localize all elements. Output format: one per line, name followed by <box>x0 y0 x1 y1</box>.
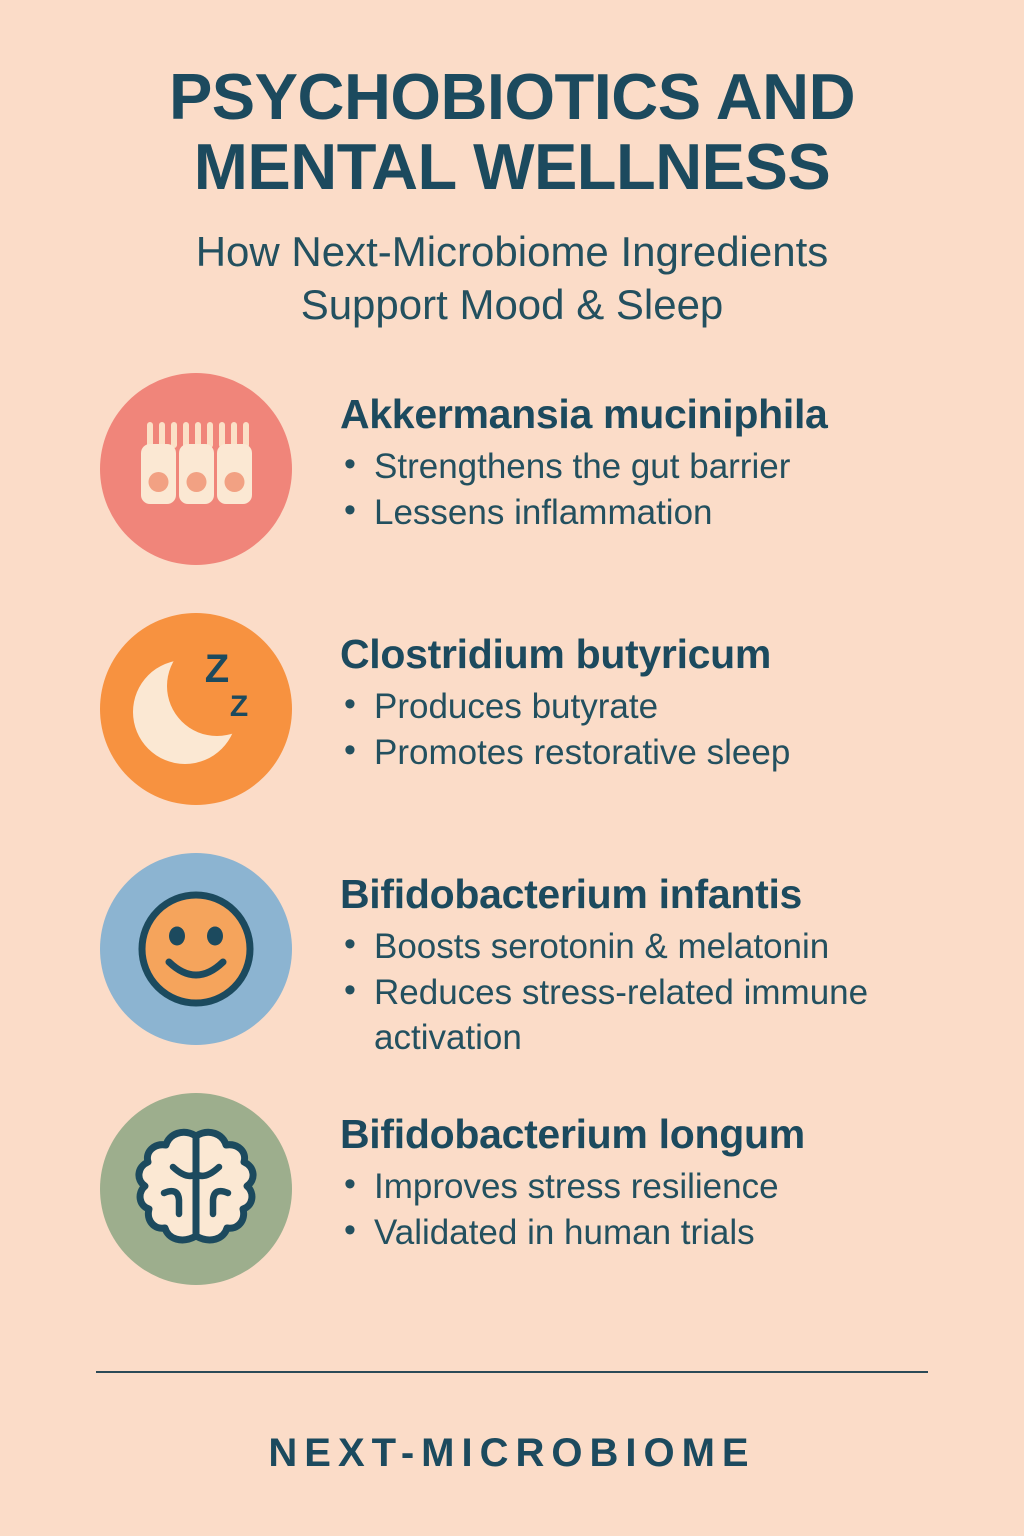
benefit-list: Produces butyrate Promotes restorative s… <box>340 684 790 775</box>
footer: NEXT-MICROBIOME <box>0 1371 1024 1536</box>
list-item: Boosts serotonin & melatonin <box>340 924 1024 970</box>
title-line-2: MENTAL WELLNESS <box>194 130 830 203</box>
benefit-list: Strengthens the gut barrier Lessens infl… <box>340 444 828 535</box>
list-item: Validated in human trials <box>340 1210 805 1256</box>
list-item: Lessens inflammation <box>340 490 828 536</box>
ingredient-name: Akkermansia muciniphila <box>340 393 828 436</box>
crescent-moon-zzz-icon: Z Z <box>100 613 292 805</box>
row-text: Bifidobacterium longum Improves stress r… <box>340 1087 805 1255</box>
subtitle-line-1: How Next-Microbiome Ingredients <box>196 228 829 275</box>
divider <box>96 1371 928 1373</box>
list-item: Produces butyrate <box>340 684 790 730</box>
header: PSYCHOBIOTICS AND MENTAL WELLNESS How Ne… <box>0 0 1024 331</box>
list-item: Strengthens the gut barrier <box>340 444 828 490</box>
ingredient-name: Bifidobacterium infantis <box>340 873 1024 916</box>
list-item: Z Z Clostridium butyricum Produces butyr… <box>0 607 1024 847</box>
list-item: Bifidobacterium longum Improves stress r… <box>0 1087 1024 1327</box>
list-item: Akkermansia muciniphila Strengthens the … <box>0 367 1024 607</box>
benefit-list: Improves stress resilience Validated in … <box>340 1164 805 1255</box>
row-text: Bifidobacterium infantis Boosts serotoni… <box>340 847 1024 1061</box>
list-item: Bifidobacterium infantis Boosts serotoni… <box>0 847 1024 1087</box>
smiley-face-icon <box>100 853 292 1045</box>
row-text: Akkermansia muciniphila Strengthens the … <box>340 367 828 535</box>
svg-text:Z: Z <box>205 647 229 691</box>
benefit-list: Boosts serotonin & melatonin Reduces str… <box>340 924 1024 1061</box>
page-title: PSYCHOBIOTICS AND MENTAL WELLNESS <box>0 62 1024 202</box>
page-subtitle: How Next-Microbiome Ingredients Support … <box>0 226 1024 331</box>
row-text: Clostridium butyricum Produces butyrate … <box>340 607 790 775</box>
list-item: Improves stress resilience <box>340 1164 805 1210</box>
list-item: Promotes restorative sleep <box>340 730 790 776</box>
gut-epithelial-cells-icon <box>100 373 292 565</box>
ingredient-list: Akkermansia muciniphila Strengthens the … <box>0 367 1024 1327</box>
brand-name: NEXT-MICROBIOME <box>0 1431 1024 1536</box>
subtitle-line-2: Support Mood & Sleep <box>301 281 724 328</box>
brain-icon <box>100 1093 292 1285</box>
ingredient-name: Clostridium butyricum <box>340 633 790 676</box>
svg-text:Z: Z <box>230 690 248 723</box>
ingredient-name: Bifidobacterium longum <box>340 1113 805 1156</box>
list-item: Reduces stress-related immune activation <box>340 970 1024 1061</box>
title-line-1: PSYCHOBIOTICS AND <box>169 60 855 133</box>
infographic-poster: PSYCHOBIOTICS AND MENTAL WELLNESS How Ne… <box>0 0 1024 1536</box>
